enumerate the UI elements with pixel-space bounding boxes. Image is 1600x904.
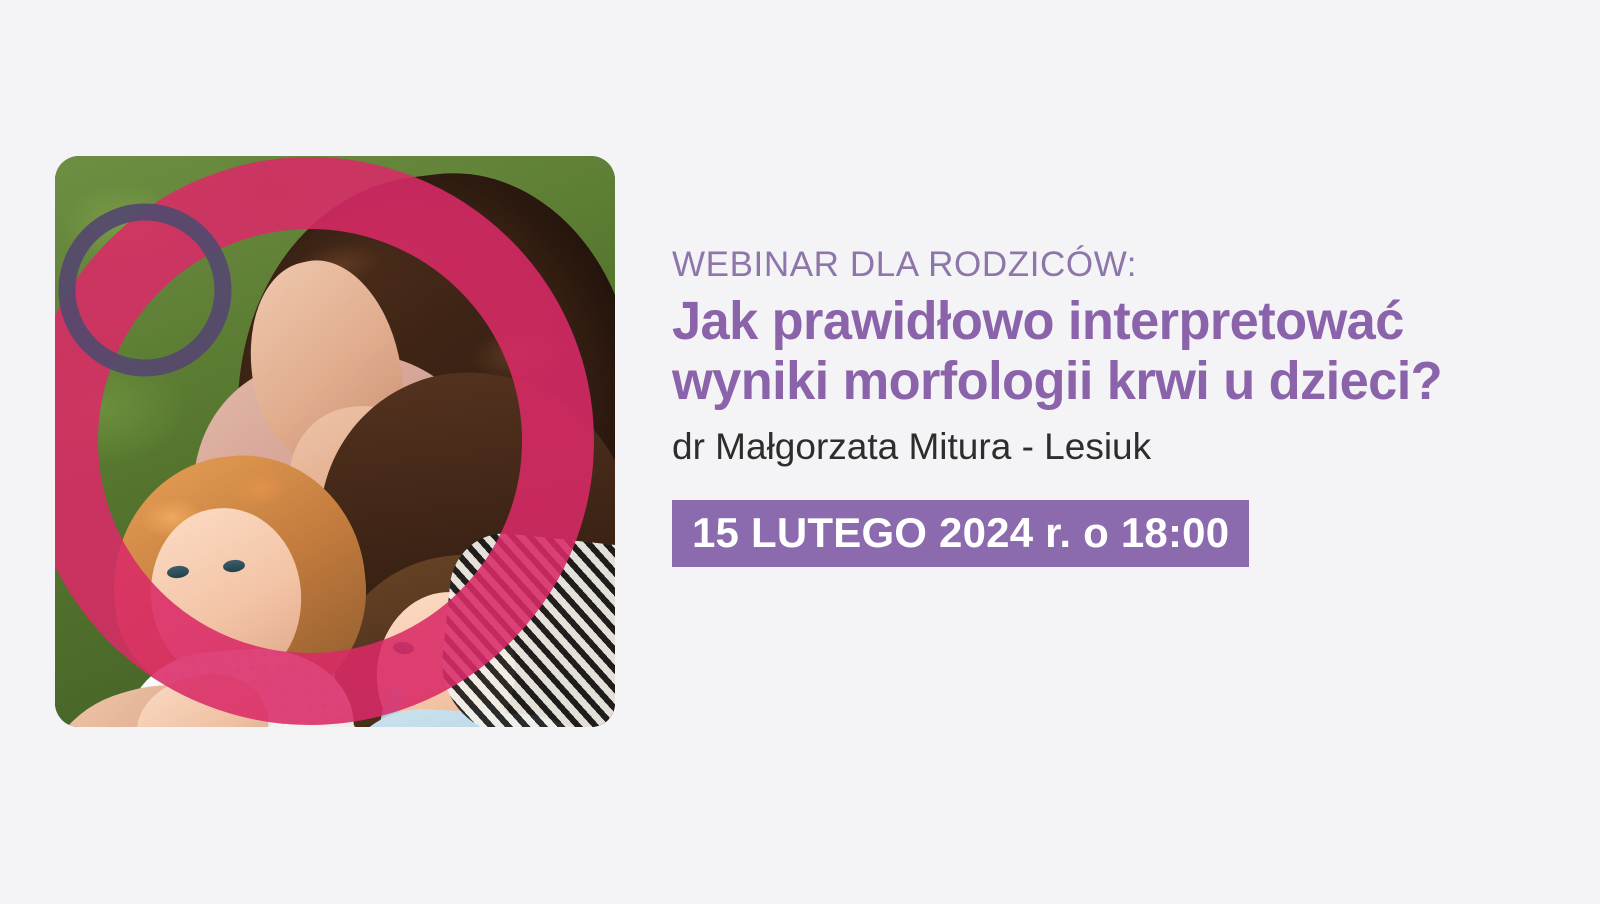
headline-line-2: wyniki morfologii krwi u dzieci? [672, 351, 1526, 411]
webinar-speaker: dr Małgorzata Mitura - Lesiuk [672, 425, 1552, 469]
webinar-eyebrow: WEBINAR DLA RODZICÓW: [672, 246, 1552, 285]
webinar-text-column: WEBINAR DLA RODZICÓW: Jak prawidłowo int… [672, 246, 1552, 567]
webinar-banner: WEBINAR DLA RODZICÓW: Jak prawidłowo int… [0, 0, 1600, 904]
patterned-blanket [435, 528, 615, 727]
webinar-headline: Jak prawidłowo interpretować wyniki morf… [672, 291, 1526, 412]
webinar-photo-card [55, 156, 615, 727]
family-photo [55, 156, 615, 727]
headline-line-1: Jak prawidłowo interpretować [672, 291, 1526, 351]
webinar-date-badge: 15 LUTEGO 2024 r. o 18:00 [672, 500, 1249, 567]
